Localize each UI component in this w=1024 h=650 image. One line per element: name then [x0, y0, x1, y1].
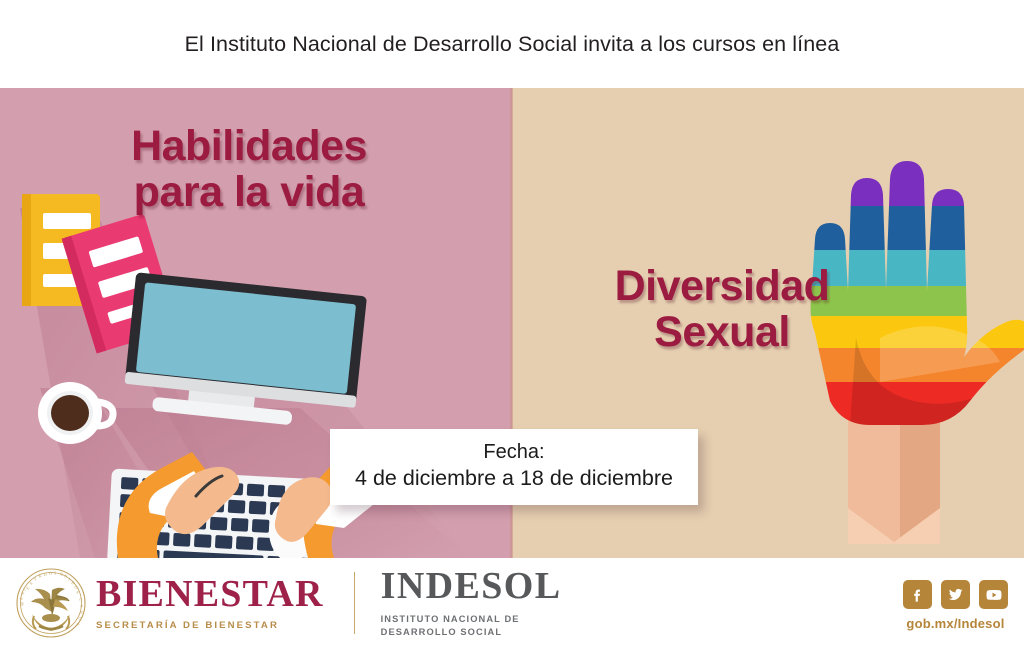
date-value: 4 de diciembre a 18 de diciembre — [336, 465, 692, 492]
social-url[interactable]: gob.mx/Indesol — [903, 616, 1008, 631]
bienestar-wordmark: BIENESTAR — [96, 575, 324, 613]
svg-text:E: E — [25, 585, 31, 591]
left-title-line2: para la vida — [14, 170, 484, 216]
header-bar: El Instituto Nacional de Desarrollo Soci… — [0, 0, 1024, 88]
svg-text:T: T — [33, 576, 38, 582]
svg-text:C: C — [78, 598, 83, 602]
left-panel-title: Habilidades para la vida — [14, 124, 484, 215]
svg-text:N: N — [79, 611, 83, 614]
mexico-coat-of-arms-icon: E S T A D O S U N I D O S M E X I C A — [14, 566, 88, 640]
indesol-logo: INDESOL INSTITUTO NACIONAL DE DESARROLLO… — [381, 567, 562, 638]
bienestar-logo: BIENESTAR SECRETARÍA DE BIENESTAR — [96, 575, 324, 631]
svg-text:E: E — [19, 596, 24, 600]
social-links: gob.mx/Indesol — [903, 580, 1008, 631]
svg-text:M: M — [20, 601, 25, 606]
logo-divider — [354, 572, 355, 634]
svg-text:S: S — [28, 580, 34, 586]
date-box: Fecha: 4 de diciembre a 18 de diciembre — [330, 429, 698, 505]
svg-text:S: S — [54, 570, 57, 575]
right-title-line1: Diversidad — [512, 264, 932, 310]
svg-text:D: D — [43, 571, 47, 577]
date-label: Fecha: — [336, 440, 692, 465]
brand-group: E S T A D O S U N I D O S M E X I C A — [14, 566, 561, 640]
twitter-icon[interactable] — [941, 580, 970, 609]
svg-text:O: O — [49, 570, 53, 575]
left-title-line1: Habilidades — [14, 124, 484, 170]
facebook-icon[interactable] — [903, 580, 932, 609]
youtube-icon[interactable] — [979, 580, 1008, 609]
svg-text:N: N — [64, 573, 69, 579]
svg-text:A: A — [79, 604, 84, 608]
right-title-line2: Sexual — [512, 310, 932, 356]
indesol-wordmark: INDESOL — [381, 567, 562, 605]
indesol-subtitle-line1: INSTITUTO NACIONAL DE — [381, 613, 562, 626]
svg-text:O: O — [78, 617, 82, 620]
indesol-subtitle-line2: DESARROLLO SOCIAL — [381, 626, 562, 639]
right-panel-title: Diversidad Sexual — [512, 264, 932, 355]
promo-banner: Habilidades para la vida Diversidad Sexu… — [0, 88, 1024, 558]
footer-bar: E S T A D O S U N I D O S M E X I C A — [0, 558, 1024, 650]
indesol-subtitle: INSTITUTO NACIONAL DE DESARROLLO SOCIAL — [381, 613, 562, 638]
bienestar-subtitle: SECRETARÍA DE BIENESTAR — [96, 620, 324, 631]
header-title: El Instituto Nacional de Desarrollo Soci… — [185, 32, 840, 57]
